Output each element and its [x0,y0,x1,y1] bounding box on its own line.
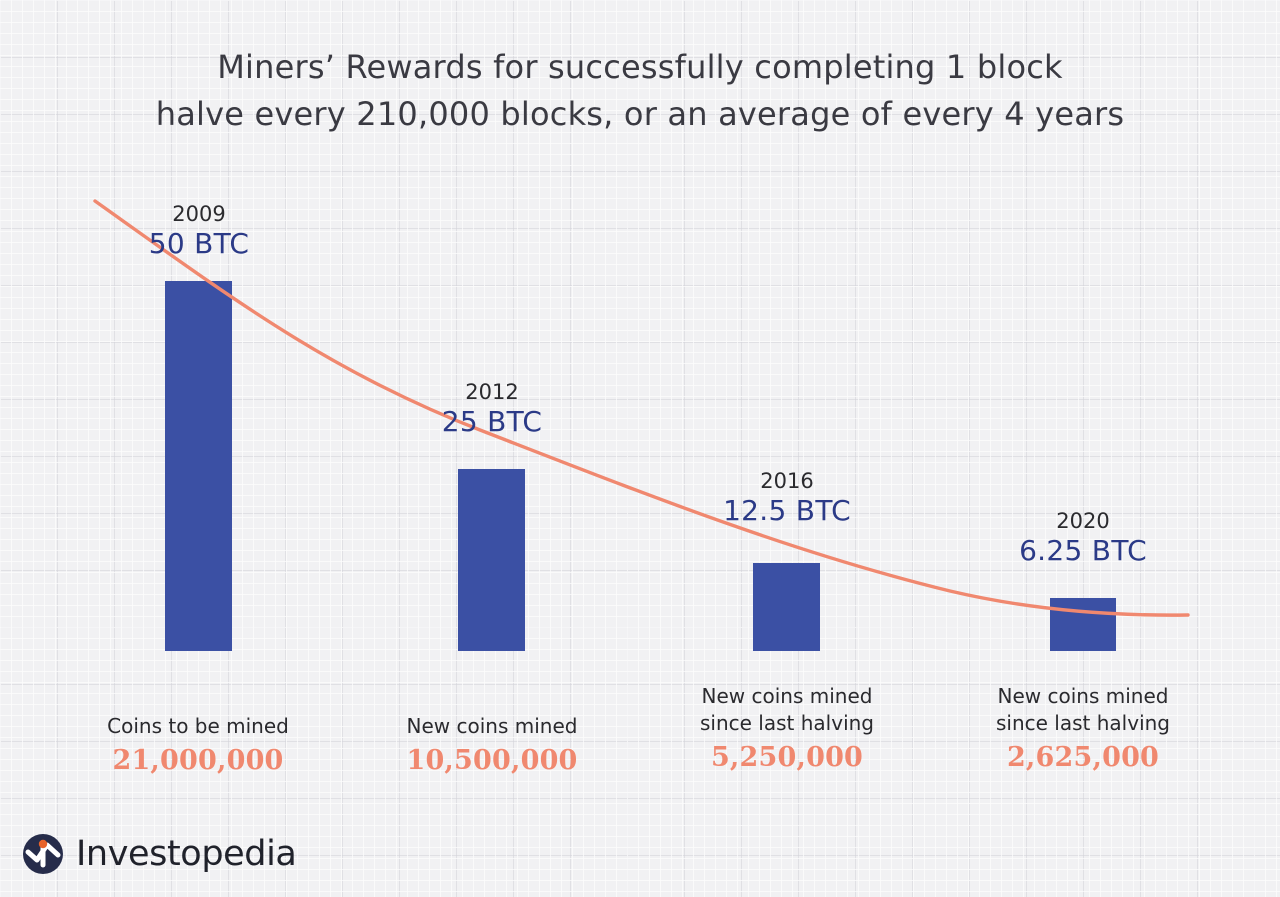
bar-2012 [458,469,525,651]
bottom-caption-2009-line-1: Coins to be mined [48,713,348,740]
annotation-value-2020: 6.25 BTC [983,534,1183,568]
bottom-annotation-2016: New coins mined since last halving 5,250… [637,683,937,774]
annotation-2012: 2012 25 BTC [392,379,592,439]
brand-wordmark: Investopedia [76,834,296,874]
bottom-amount-2020: 2,625,000 [933,742,1233,774]
annotation-value-2016: 12.5 BTC [687,494,887,528]
annotation-2020: 2020 6.25 BTC [983,508,1183,568]
bottom-caption-2012-line-1: New coins mined [342,713,642,740]
annotation-year-2020: 2020 [983,508,1183,534]
annotation-value-2012: 25 BTC [392,405,592,439]
bottom-annotation-2012: New coins mined 10,500,000 [342,713,642,777]
annotation-year-2009: 2009 [99,201,299,227]
bar-2020 [1050,598,1116,651]
bottom-amount-2009: 21,000,000 [48,745,348,777]
annotation-2009: 2009 50 BTC [99,201,299,261]
annotation-value-2009: 50 BTC [99,227,299,261]
infographic-canvas: Miners’ Rewards for successfully complet… [0,0,1280,897]
bottom-amount-2012: 10,500,000 [342,745,642,777]
bottom-amount-2016: 5,250,000 [637,742,937,774]
bottom-caption-2020-line-1: New coins mined [933,683,1233,710]
bottom-caption-2016-line-2: since last halving [637,710,937,737]
bottom-caption-2020-line-2: since last halving [933,710,1233,737]
annotation-year-2016: 2016 [687,468,887,494]
annotation-year-2012: 2012 [392,379,592,405]
investopedia-logo-icon [22,833,64,875]
bottom-caption-2016-line-1: New coins mined [637,683,937,710]
chart-plot-area: 2009 50 BTC 2012 25 BTC 2016 12.5 BTC 20… [0,0,1280,897]
brand-logo: Investopedia [22,833,296,875]
bottom-annotation-2009: Coins to be mined 21,000,000 [48,713,348,777]
annotation-2016: 2016 12.5 BTC [687,468,887,528]
bar-2016 [753,563,820,651]
bar-2009 [165,281,232,651]
bottom-annotation-2020: New coins mined since last halving 2,625… [933,683,1233,774]
